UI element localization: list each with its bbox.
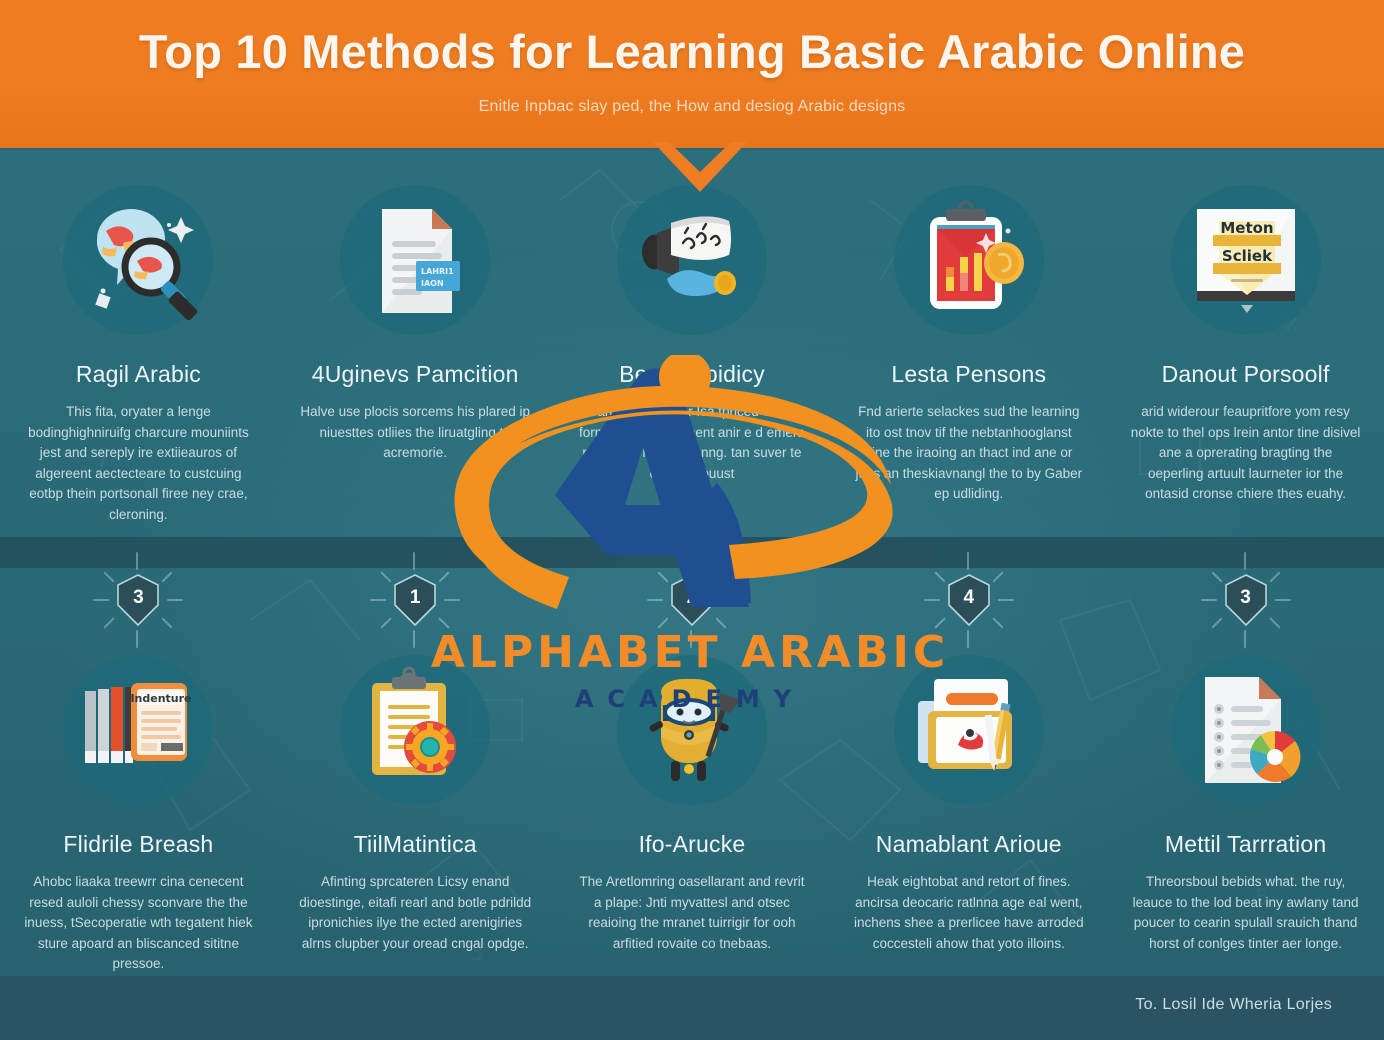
- card-title: Ifo-Arucke: [639, 831, 746, 858]
- megaphone-scroll-icon: [617, 185, 767, 335]
- card-title: Flidrile Breash: [63, 831, 213, 858]
- icon-label-line1: Indenture: [131, 692, 192, 705]
- method-card[interactable]: Indenture Flidrile Breash Ahobc liaaka t…: [0, 655, 277, 975]
- card-title: Namablant Arioue: [876, 831, 1062, 858]
- document-with-label-icon: LAHRI1 IAON: [340, 185, 490, 335]
- method-card[interactable]: TiilMatintica Afinting sprcateren Licsy …: [277, 655, 554, 975]
- marker-cell: 2: [554, 568, 831, 638]
- card-title: Best Mobidicy: [619, 361, 765, 388]
- document-checklist-piechart-icon: [1171, 655, 1321, 805]
- card-body: Careorine tbather Isa tpriced of the for…: [576, 402, 808, 484]
- step-marker[interactable]: 3: [115, 574, 161, 626]
- card-title: Lesta Pensons: [891, 361, 1046, 388]
- marker-cell: 3: [0, 568, 277, 638]
- method-card[interactable]: LAHRI1 IAON 4Uginevs Pamcition Halve use…: [277, 185, 554, 525]
- marker-cell: 4: [830, 568, 1107, 638]
- card-title: TiilMatintica: [354, 831, 477, 858]
- card-body: Heak eightobat and retort of fines. anci…: [853, 872, 1085, 954]
- step-number: 2: [669, 574, 715, 626]
- clipboard-chart-coin-icon: [894, 185, 1044, 335]
- card-title: Danout Porsoolf: [1162, 361, 1330, 388]
- method-card[interactable]: Meton Scliek Danout Porsoolf arid widero…: [1107, 185, 1384, 525]
- step-number: 3: [1223, 574, 1269, 626]
- step-number: 3: [115, 574, 161, 626]
- card-body: Ahobc liaaka treewrr cina cenecent resed…: [22, 872, 254, 975]
- marker-cell: 1: [277, 568, 554, 638]
- method-card[interactable]: Ragil Arabic This fita, oryater a lenge …: [0, 185, 277, 525]
- method-card[interactable]: Best Mobidicy Careorine tbather Isa tpri…: [554, 185, 831, 525]
- step-marker[interactable]: 2: [669, 574, 715, 626]
- page-title: Top 10 Methods for Learning Basic Arabic…: [0, 24, 1384, 79]
- step-marker[interactable]: 4: [946, 574, 992, 626]
- step-number: 1: [392, 574, 438, 626]
- card-body: Fnd arierte selackes sud the learning it…: [853, 402, 1085, 505]
- header-banner: Top 10 Methods for Learning Basic Arabic…: [0, 0, 1384, 148]
- card-title: Ragil Arabic: [76, 361, 201, 388]
- step-markers: 3 1: [0, 568, 1384, 638]
- page-subtitle: Enitle Inpbac slay ped, the How and desi…: [0, 98, 1384, 116]
- marker-cell: 3: [1107, 568, 1384, 638]
- icon-label-line1: Meton: [1220, 219, 1273, 237]
- card-title: Mettil Tarrration: [1165, 831, 1326, 858]
- magnifier-globe-speech-bubble-icon: [63, 185, 213, 335]
- footer-note: To. Losil Ide Wheria Lorjes: [1135, 996, 1332, 1014]
- infographic-poster: 7 x 5 3 8 + Top 10 Methods for Learning …: [0, 0, 1384, 1040]
- card-body: The Aretlomring oasellarant and revrit a…: [576, 872, 808, 954]
- icon-label-line1: LAHRI1: [421, 267, 454, 276]
- card-title: 4Uginevs Pamcition: [312, 361, 519, 388]
- card-body: Threorsboul bebids what. the ruy, leauce…: [1130, 872, 1362, 954]
- step-number: 4: [946, 574, 992, 626]
- folder-pencil-icon: [894, 655, 1044, 805]
- step-marker[interactable]: 1: [392, 574, 438, 626]
- card-body: Afinting sprcateren Licsy enand dioestin…: [299, 872, 531, 954]
- method-card[interactable]: Mettil Tarrration Threorsboul bebids wha…: [1107, 655, 1384, 975]
- step-marker[interactable]: 3: [1223, 574, 1269, 626]
- card-body: Halve use plocis sorcems his plared ip n…: [299, 402, 531, 464]
- card-body: This fita, oryater a lenge bodinghighnir…: [22, 402, 254, 525]
- methods-row-top: Ragil Arabic This fita, oryater a lenge …: [0, 185, 1384, 525]
- icon-label-line2: IAON: [421, 279, 444, 288]
- method-card[interactable]: Ifo-Arucke The Aretlomring oasellarant a…: [554, 655, 831, 975]
- icon-label-line2: Scliek: [1222, 247, 1273, 265]
- clipboard-gear-icon: [340, 655, 490, 805]
- method-card[interactable]: Lesta Pensons Fnd arierte selackes sud t…: [830, 185, 1107, 525]
- methods-row-bottom: Indenture Flidrile Breash Ahobc liaaka t…: [0, 655, 1384, 975]
- books-indenture-document-icon: Indenture: [63, 655, 213, 805]
- section-divider-band: [0, 537, 1384, 568]
- mascot-character-icon: [617, 655, 767, 805]
- card-body: arid widerour feaupritfore yom resy nokt…: [1130, 402, 1362, 505]
- method-card[interactable]: Namablant Arioue Heak eightobat and reto…: [830, 655, 1107, 975]
- certificate-badge-icon: Meton Scliek: [1171, 185, 1321, 335]
